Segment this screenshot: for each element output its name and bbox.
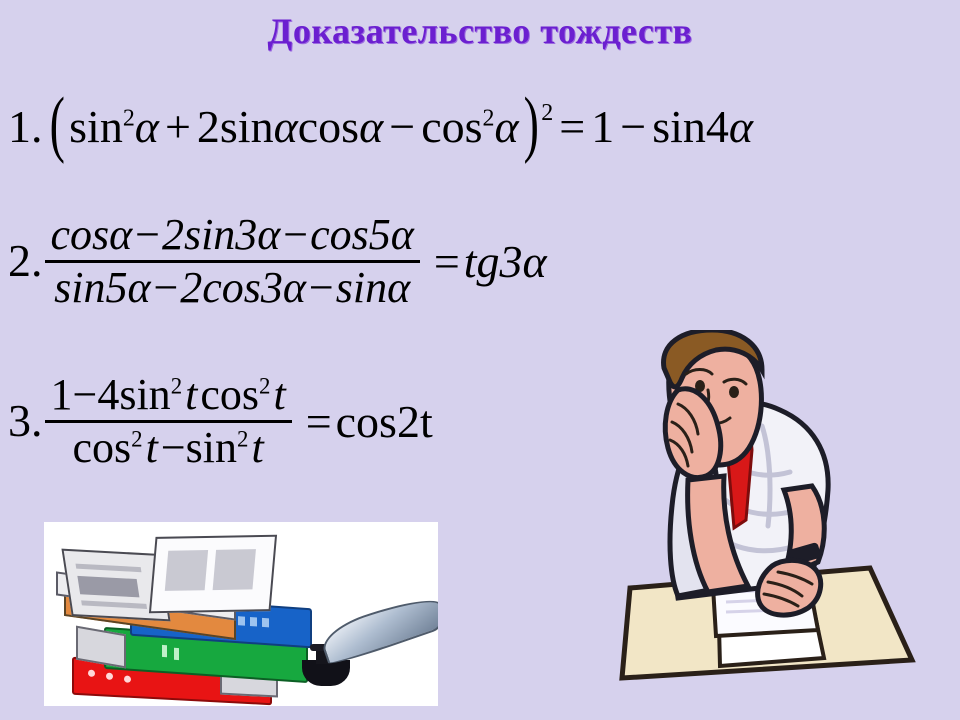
formula-1-cos-sq-fn: cos	[421, 101, 482, 152]
formula-3-num-one: 1	[51, 370, 73, 419]
formula-3-den-var-1: t	[143, 423, 161, 472]
formula-1-close-paren: )	[523, 104, 538, 145]
formula-3-den-cos-power: 2	[131, 426, 142, 451]
formula-1-alpha-3: α	[359, 101, 383, 152]
formula-1: 1. (sin2α+2sinαcosα−cos2α)2=1−sin4α	[8, 104, 753, 150]
formula-1-equals: =	[553, 101, 591, 152]
open-book-right-page	[149, 535, 277, 614]
formula-3-fraction: 1−4sin2tcos2t cos2t−sin2t	[45, 372, 292, 471]
quill-pen-icon	[320, 596, 438, 658]
formula-3-den-cos: cos	[73, 423, 132, 472]
formula-2-fraction: cosα−2sin3α−cos5α sin5α−2cos3α−sinα	[45, 212, 420, 311]
formula-1-rhs-sin: sin	[652, 101, 706, 152]
formula-3-den-sin-power: 2	[237, 426, 248, 451]
formula-1-minus: −	[383, 101, 421, 152]
formula-1-sin-fn: sin	[69, 101, 123, 152]
formula-1-alpha-2: α	[274, 101, 298, 152]
formula-3-num-sin-power: 2	[171, 373, 182, 398]
eye-right	[729, 386, 739, 398]
formula-2-equals: =	[420, 235, 460, 288]
formula-1-expression: (sin2α+2sinαcosα−cos2α)2=1−sin4α	[45, 104, 754, 150]
formula-3-numerator: 1−4sin2tcos2t	[45, 372, 292, 418]
formula-3-den-sin: sin	[186, 423, 237, 472]
formula-3-num-cos: cos	[200, 370, 259, 419]
formula-3-num-minus: −	[73, 370, 98, 419]
formula-1-sin-power: 2	[123, 106, 135, 132]
formula-1-rhs-one: 1	[591, 101, 614, 152]
formula-3-den-minus: −	[161, 423, 186, 472]
formula-3-num-cos-power: 2	[259, 373, 270, 398]
formula-2-rhs: tg3α	[460, 235, 547, 288]
formula-3-equals: =	[292, 395, 332, 448]
formula-1-alpha-4: α	[494, 101, 518, 152]
formula-1-rhs-coef: 4	[706, 101, 729, 152]
page-title: Доказательство тождеств	[0, 10, 960, 52]
formula-3: 3. 1−4sin2tcos2t cos2t−sin2t = cos2t	[8, 372, 433, 471]
formula-1-outer-power: 2	[541, 100, 553, 126]
formula-1-open-paren: (	[49, 104, 64, 145]
thinking-man-image	[612, 330, 960, 720]
formula-1-rhs-alpha: α	[729, 101, 753, 152]
formula-1-two-sin: 2sin	[197, 101, 274, 152]
formula-2: 2. cosα−2sin3α−cos5α sin5α−2cos3α−sinα =…	[8, 212, 547, 311]
formula-1-number: 1.	[8, 104, 45, 150]
books-and-quill-image	[44, 522, 438, 706]
formula-3-num-var-1: t	[182, 370, 200, 419]
formula-2-numerator: cosα−2sin3α−cos5α	[45, 212, 420, 258]
formula-1-cos-power: 2	[483, 106, 495, 132]
formula-1-rhs-minus: −	[614, 101, 652, 152]
formula-2-denominator: sin5α−2cos3α−sinα	[48, 265, 416, 311]
formula-3-num-var-2: t	[270, 370, 285, 419]
formula-1-alpha-1: α	[135, 101, 159, 152]
formula-3-denominator: cos2t−sin2t	[67, 425, 270, 471]
formula-3-den-var-2: t	[248, 423, 263, 472]
formula-3-rhs: cos2t	[332, 395, 433, 448]
formula-3-number: 3.	[8, 398, 45, 444]
formula-1-cos-fn: cos	[298, 101, 359, 152]
formula-3-num-coef: 4	[97, 370, 119, 419]
formula-1-plus: +	[159, 101, 197, 152]
formula-3-num-sin: sin	[119, 370, 170, 419]
formula-2-number: 2.	[8, 238, 45, 284]
